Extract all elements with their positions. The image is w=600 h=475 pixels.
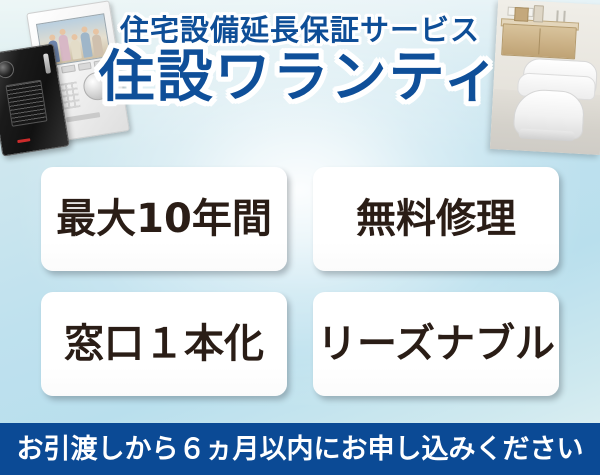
feature-card-label: 無料修理 xyxy=(356,199,516,239)
service-subtitle: 住宅設備延長保証サービス xyxy=(0,16,600,45)
feature-card-grid: 最大10年間 無料修理 窓口１本化 リーズナブル xyxy=(41,167,559,396)
feature-card-label: リーズナブル xyxy=(317,324,555,364)
page-title: 住設ワランティ xyxy=(0,49,600,108)
heading-block: 住宅設備延長保証サービス 住設ワランティ xyxy=(0,16,600,108)
feature-card-single-contact[interactable]: 窓口１本化 xyxy=(41,292,287,396)
feature-card-label: 窓口１本化 xyxy=(64,324,264,364)
feature-card-reasonable[interactable]: リーズナブル xyxy=(313,292,559,396)
application-deadline-bar: お引渡しから６ヵ月以内にお申し込みください xyxy=(0,423,600,475)
status-led xyxy=(17,138,30,143)
promotional-banner: 住宅設備延長保証サービス 住設ワランティ 最大10年間 無料修理 窓口１本化 リ… xyxy=(0,0,600,475)
feature-card-free-repair[interactable]: 無料修理 xyxy=(313,167,559,271)
application-deadline-text: お引渡しから６ヵ月以内にお申し込みください xyxy=(17,436,584,463)
feature-card-label: 最大10年間 xyxy=(56,199,272,239)
intercom-brand-label xyxy=(66,112,100,122)
feature-card-max-years[interactable]: 最大10年間 xyxy=(41,167,287,271)
